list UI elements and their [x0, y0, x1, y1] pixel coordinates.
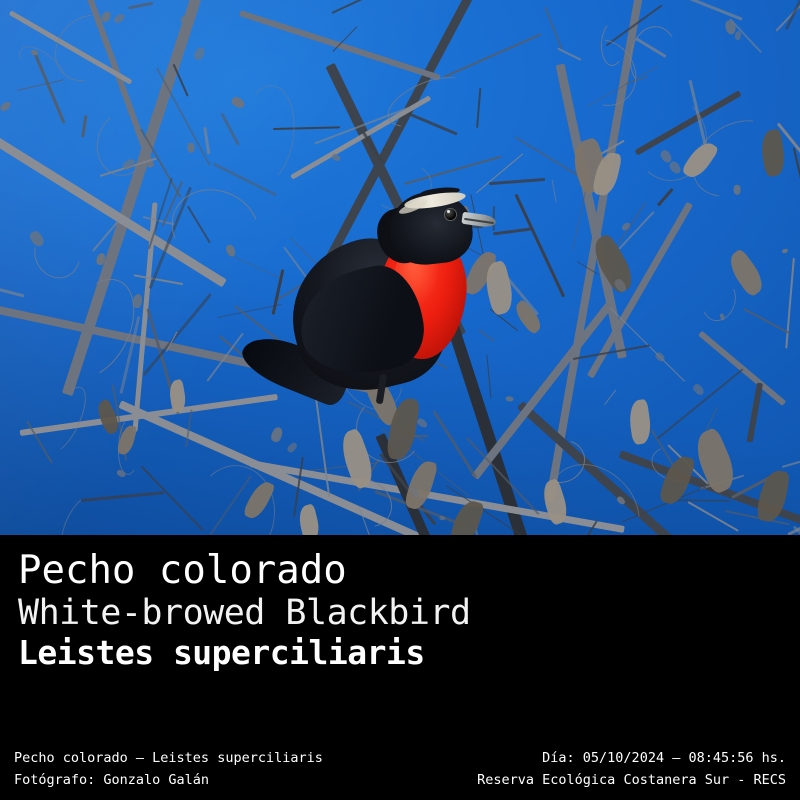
footer-right-column: Día: 05/10/2024 — 08:45:56 hs. Reserva E…	[477, 747, 786, 791]
footer-species-line: Pecho colorado — Leistes superciliaris	[14, 747, 323, 769]
footer-left-column: Pecho colorado — Leistes superciliaris F…	[14, 747, 323, 791]
photo-card: Pecho colorado White-browed Blackbird Le…	[0, 0, 800, 800]
scientific-name-label: Leistes superciliaris	[18, 636, 628, 669]
english-name-label: White-browed Blackbird	[18, 596, 628, 636]
bud	[188, 143, 195, 153]
footer-photographer-line: Fotógrafo: Gonzalo Galán	[14, 769, 323, 791]
footer-datetime-line: Día: 05/10/2024 — 08:45:56 hs.	[477, 747, 786, 769]
common-name-label: Pecho colorado	[18, 545, 628, 596]
photograph	[0, 0, 800, 535]
footer-bar: Pecho colorado — Leistes superciliaris F…	[0, 735, 800, 800]
caption-text-block: Pecho colorado White-browed Blackbird Le…	[18, 545, 628, 669]
caption-bar: Pecho colorado White-browed Blackbird Le…	[0, 535, 800, 735]
bird-eye-glint	[447, 210, 450, 213]
bud	[734, 185, 741, 195]
footer-location-line: Reserva Ecológica Costanera Sur - RECS	[477, 769, 786, 791]
bird-subject	[282, 178, 512, 438]
